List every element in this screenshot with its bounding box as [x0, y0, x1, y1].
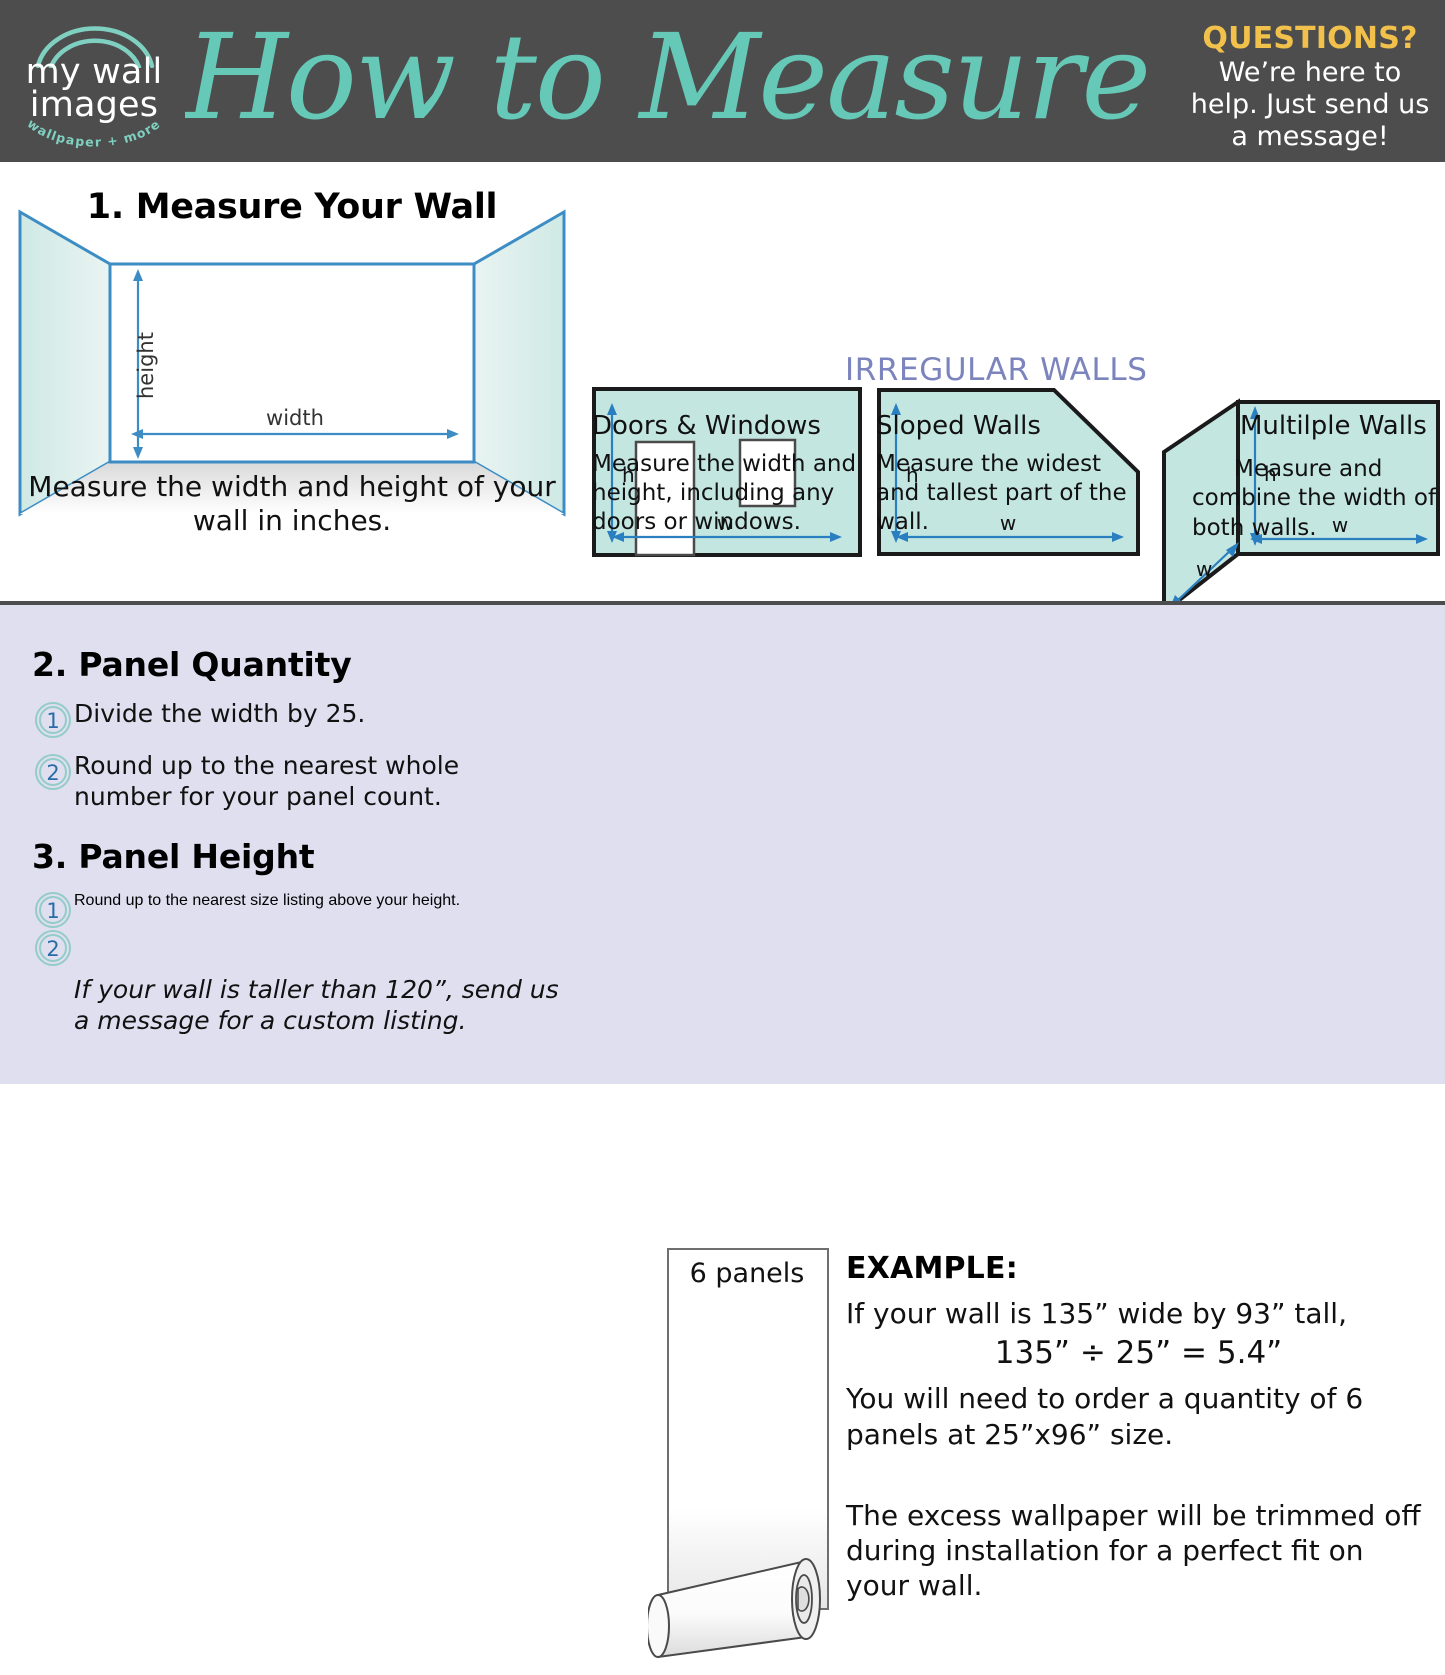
roll-panel-count-label: 6 panels [648, 1258, 846, 1289]
example-equation: 135” ÷ 25” = 5.4” [846, 1335, 1431, 1371]
caption-body: Measure the width and height, including … [592, 450, 862, 538]
caption-title: Sloped Walls [876, 412, 1144, 441]
questions-body: We’re here to help. Just send us a messa… [1185, 57, 1435, 153]
brand-logo: my wall images wallpaper + more [14, 16, 174, 151]
wall-left-panel [20, 212, 110, 514]
section-panel-calc: 2. Panel Quantity 1 Divide the width by … [0, 605, 1445, 1084]
example-line-3: The excess wallpaper will be trimmed off… [846, 1498, 1431, 1604]
step-number-badge: 2 [32, 752, 74, 792]
step-number-badge: 2 [32, 928, 74, 973]
infographic-page: my wall images wallpaper + more How to M… [0, 0, 1445, 1084]
caption-sloped-walls: Sloped Walls Measure the widest and tall… [876, 412, 1144, 538]
irregular-walls-heading: IRREGULAR WALLS [845, 352, 1148, 388]
width-label: width [266, 406, 324, 430]
step-number: 1 [46, 709, 59, 733]
section2-title: 2. Panel Quantity [32, 645, 592, 684]
logo-tagline: wallpaper + more [25, 120, 164, 150]
header-bar: my wall images wallpaper + more How to M… [0, 0, 1445, 162]
panel-quantity-block: 2. Panel Quantity 1 Divide the width by … [32, 645, 592, 813]
step-text: Round up to the nearest size listing abo… [74, 892, 460, 910]
panel-height-block: 3. Panel Height 1 2 Round up [32, 837, 592, 1037]
section-measure-wall: height width 1. Measure Your Wall Measur… [0, 162, 1445, 603]
step-number: 1 [46, 899, 59, 923]
example-line-1: If your wall is 135” wide by 93” tall, [846, 1296, 1431, 1331]
questions-heading: QUESTIONS? [1185, 22, 1435, 55]
caption-body: Measure and combine the width of both wa… [1192, 455, 1445, 543]
example-heading: EXAMPLE: [846, 1251, 1431, 1286]
caption-title: Multilple Walls [1240, 412, 1445, 441]
step-item: 2 Round up to the nearest whole number f… [32, 750, 592, 813]
section3-title: 3. Panel Height [32, 837, 592, 876]
example-line-2: You will need to order a quantity of 6 p… [846, 1381, 1431, 1452]
caption-body: Measure the widest and tallest part of t… [876, 450, 1144, 538]
step-group: 1 2 Round up to the nearest size listing… [32, 890, 592, 976]
svg-text:wallpaper + more: wallpaper + more [25, 120, 164, 150]
page-title-text: How to Measure & Order [185, 8, 1180, 146]
step-item: 1 Divide the width by 25. [32, 698, 592, 740]
caption-multiple-walls-body: Measure and combine the width of both wa… [1192, 455, 1445, 543]
page-title: How to Measure & Order [185, 6, 1180, 156]
section1-title: 1. Measure Your Wall [12, 187, 572, 227]
w-label-left: w [1196, 557, 1212, 581]
caption-multiple-walls: Multilple Walls [1240, 412, 1445, 441]
section1-caption: Measure the width and height of your wal… [12, 470, 572, 538]
example-spacer [846, 1452, 1431, 1488]
step-number: 2 [46, 937, 59, 961]
step-text: Round up to the nearest whole number for… [74, 750, 549, 813]
logo-tagline-arc: wallpaper + more [14, 120, 174, 156]
wall-right-panel [474, 212, 564, 514]
step-number: 2 [46, 761, 59, 785]
caption-doors-windows: Doors & Windows Measure the width and he… [592, 412, 862, 538]
height-label: height [134, 332, 158, 399]
panel-height-note: If your wall is taller than 120”, send u… [74, 974, 564, 1037]
step-text: Divide the width by 25. [74, 698, 365, 729]
questions-block: QUESTIONS? We’re here to help. Just send… [1185, 22, 1435, 153]
wallpaper-roll-illustration [648, 1245, 846, 1675]
logo-line-2: images [14, 88, 174, 123]
step-number-badge: 1 [32, 700, 74, 740]
example-block: EXAMPLE: If your wall is 135” wide by 93… [846, 1251, 1431, 1604]
caption-title: Doors & Windows [592, 412, 862, 441]
wall-back-panel [110, 264, 474, 462]
